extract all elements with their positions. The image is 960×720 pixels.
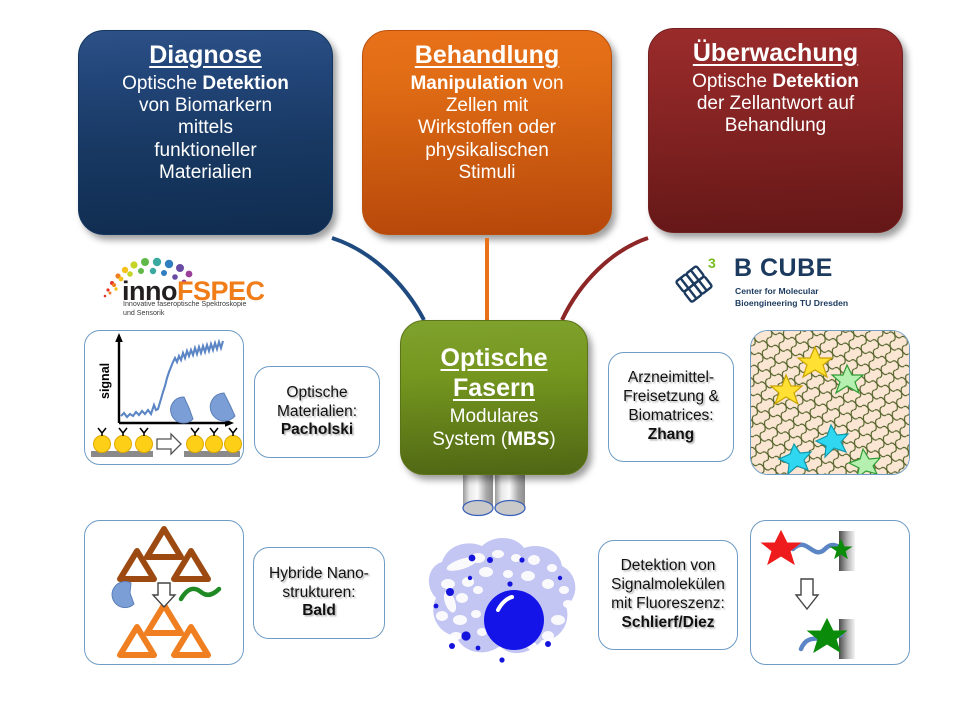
star-red [762, 531, 800, 564]
center-node-sub-acronym: MBS [507, 429, 549, 450]
center-node-title-line1: Optische [441, 343, 548, 373]
center-node-sub-line1: Modulares [432, 406, 556, 429]
pillar-box-diagnose[interactable]: Diagnose Optische Detektion von Biomarke… [78, 30, 333, 235]
illustration-hybrid-nanostructures [84, 520, 244, 665]
innofspec-subtitle: Innovative faseroptische Spektroskopie u… [123, 300, 283, 318]
pillar-text: Materialien [122, 162, 289, 184]
card-arzneimittel-freisetzung[interactable]: Arzneimittel- Freisetzung & Biomatrices:… [608, 352, 734, 462]
pillar-text: physikalischen [410, 140, 563, 162]
card-person-name: Bald [302, 602, 336, 619]
pillar-text: Zellen mit [410, 95, 563, 117]
center-node-sub-paren: ) [549, 429, 555, 450]
pillar-text: Optische [122, 73, 202, 94]
card-person-name: Schlierf/Diez [621, 614, 714, 631]
card-detektion-signalmolekuelen[interactable]: Detektion von Signalmolekülen mit Fluore… [598, 540, 738, 650]
pillar-text-bold: Manipulation [410, 73, 527, 94]
pillar-text: Wirkstoffen oder [410, 117, 563, 139]
card-line: Arzneimittel- [623, 369, 719, 388]
pillar-text: funktioneller [122, 140, 289, 162]
pillar-text: von Biomarkern [122, 95, 289, 117]
pillar-text: der Zellantwort auf [692, 93, 859, 115]
bcube-wordmark: B CUBE [734, 256, 833, 281]
card-line: strukturen: [269, 584, 369, 603]
pillar-text: mittels [122, 117, 289, 139]
pillar-title-behandlung: Behandlung [415, 41, 559, 71]
bcube-subtitle: Center for Molecular Bioengineering TU D… [735, 286, 870, 309]
card-line: Materialien: [277, 403, 357, 422]
center-node-title-line2: Fasern [453, 373, 535, 403]
diagram-canvas: Diagnose Optische Detektion von Biomarke… [0, 0, 960, 720]
pillar-text-bold: Detektion [772, 71, 859, 92]
card-hybride-nanostrukturen[interactable]: Hybride Nano- strukturen: Bald [253, 547, 385, 639]
pillar-body-behandlung: Manipulation von Zellen mit Wirkstoffen … [410, 73, 563, 185]
pillar-box-behandlung[interactable]: Behandlung Manipulation von Zellen mit W… [362, 30, 612, 235]
illustration-biomatrix [750, 330, 910, 475]
center-node-sub-line2: System ( [432, 429, 507, 450]
chart-y-axis-label: signal [98, 363, 112, 399]
pillar-text: Optische [692, 71, 772, 92]
pillar-body-diagnose: Optische Detektion von Biomarkern mittel… [122, 73, 289, 185]
pillar-text-bold: Detektion [202, 73, 289, 94]
card-line: mit Fluoreszenz: [611, 595, 725, 614]
innofspec-subtitle-line1: Innovative faseroptische Spektroskopie [123, 300, 283, 309]
card-line: Freisetzung & [623, 388, 719, 407]
illustration-fluorescence-detection [750, 520, 910, 665]
logo-bcube: 3 B CUBE Center for Molecular Bioenginee… [672, 252, 872, 312]
pillar-title-ueberwachung: Überwachung [693, 39, 858, 69]
bcube-subtitle-line1: Center for Molecular [735, 286, 870, 298]
innofspec-subtitle-line2: und Sensorik [123, 309, 283, 318]
bcube-superscript: 3 [708, 255, 716, 271]
illustration-cell [412, 528, 590, 668]
card-person-name: Zhang [648, 426, 695, 443]
card-person-name: Pacholski [281, 421, 353, 438]
center-node-optische-fasern[interactable]: Optische Fasern Modulares System (MBS) [400, 320, 588, 475]
pillar-text: Behandlung [692, 115, 859, 137]
illustration-signal-biosensor: signal [84, 330, 244, 465]
pillar-text: Stimuli [410, 162, 563, 184]
pillar-title-diagnose: Diagnose [149, 41, 262, 71]
card-optische-materialien[interactable]: Optische Materialien: Pacholski [254, 366, 380, 458]
card-line: Optische [277, 384, 357, 403]
pillar-text: von [528, 73, 564, 94]
logo-innofspec: innoFSPEC Innovative faseroptische Spekt… [100, 252, 285, 314]
connector-diagnose-to-center [332, 238, 424, 320]
card-line: Detektion von [611, 557, 725, 576]
card-line: Biomatrices: [623, 407, 719, 426]
pillar-body-ueberwachung: Optische Detektion der Zellantwort auf B… [692, 71, 859, 138]
card-line: Signalmolekülen [611, 576, 725, 595]
center-node-subtitle: Modulares System (MBS) [432, 406, 556, 452]
pillar-box-ueberwachung[interactable]: Überwachung Optische Detektion der Zella… [648, 28, 903, 233]
connector-ueberwachung-to-center [562, 238, 648, 320]
bcube-subtitle-line2: Bioengineering TU Dresden [735, 298, 870, 310]
card-line: Hybride Nano- [269, 565, 369, 584]
